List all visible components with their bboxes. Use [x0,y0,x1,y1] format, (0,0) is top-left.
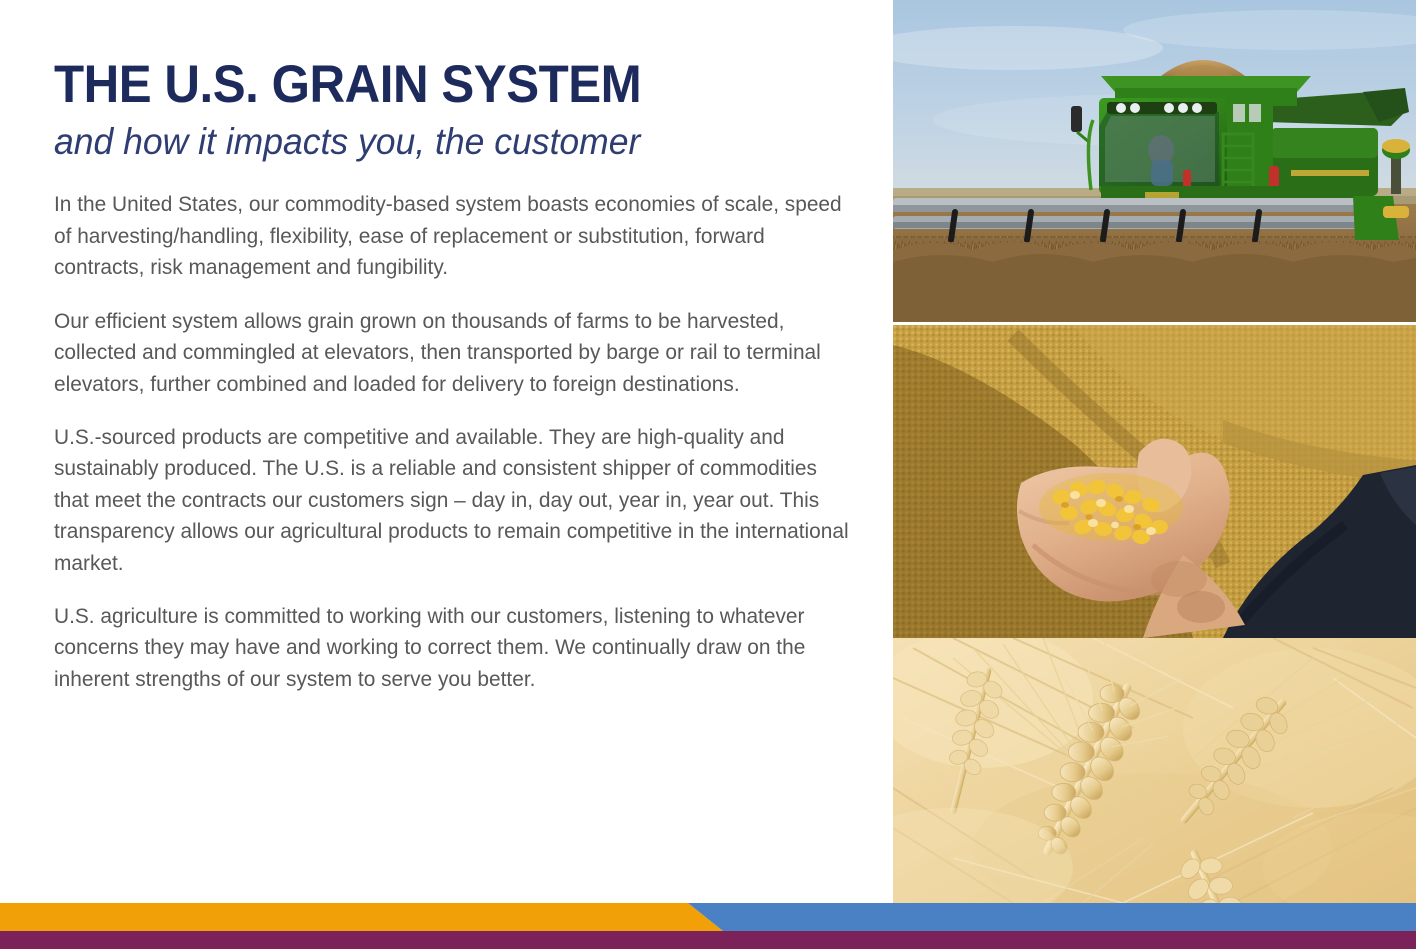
paragraph-2: Our efficient system allows grain grown … [54,306,857,400]
wheat-heads-photo [893,638,1416,903]
footer-color-bar [0,903,1416,949]
footer-bar-orange-segment [0,903,725,931]
page-subtitle: and how it impacts you, the customer [54,121,836,162]
paragraph-1: In the United States, our commodity-base… [54,189,857,283]
text-column: THE U.S. GRAIN SYSTEM and how it impacts… [0,0,893,903]
footer-bar-upper [0,903,1416,931]
footer-bar-purple-segment [0,931,1416,949]
paragraph-4: U.S. agriculture is committed to working… [54,601,857,695]
page-title: THE U.S. GRAIN SYSTEM [54,58,812,112]
paragraph-3: U.S.-sourced products are competitive an… [54,422,857,579]
body-copy: In the United States, our commodity-base… [54,189,869,695]
page-root: THE U.S. GRAIN SYSTEM and how it impacts… [0,0,1416,949]
corn-kernels-in-hand-photo [893,325,1416,638]
combine-harvester-photo [893,0,1416,322]
image-column [893,0,1416,903]
